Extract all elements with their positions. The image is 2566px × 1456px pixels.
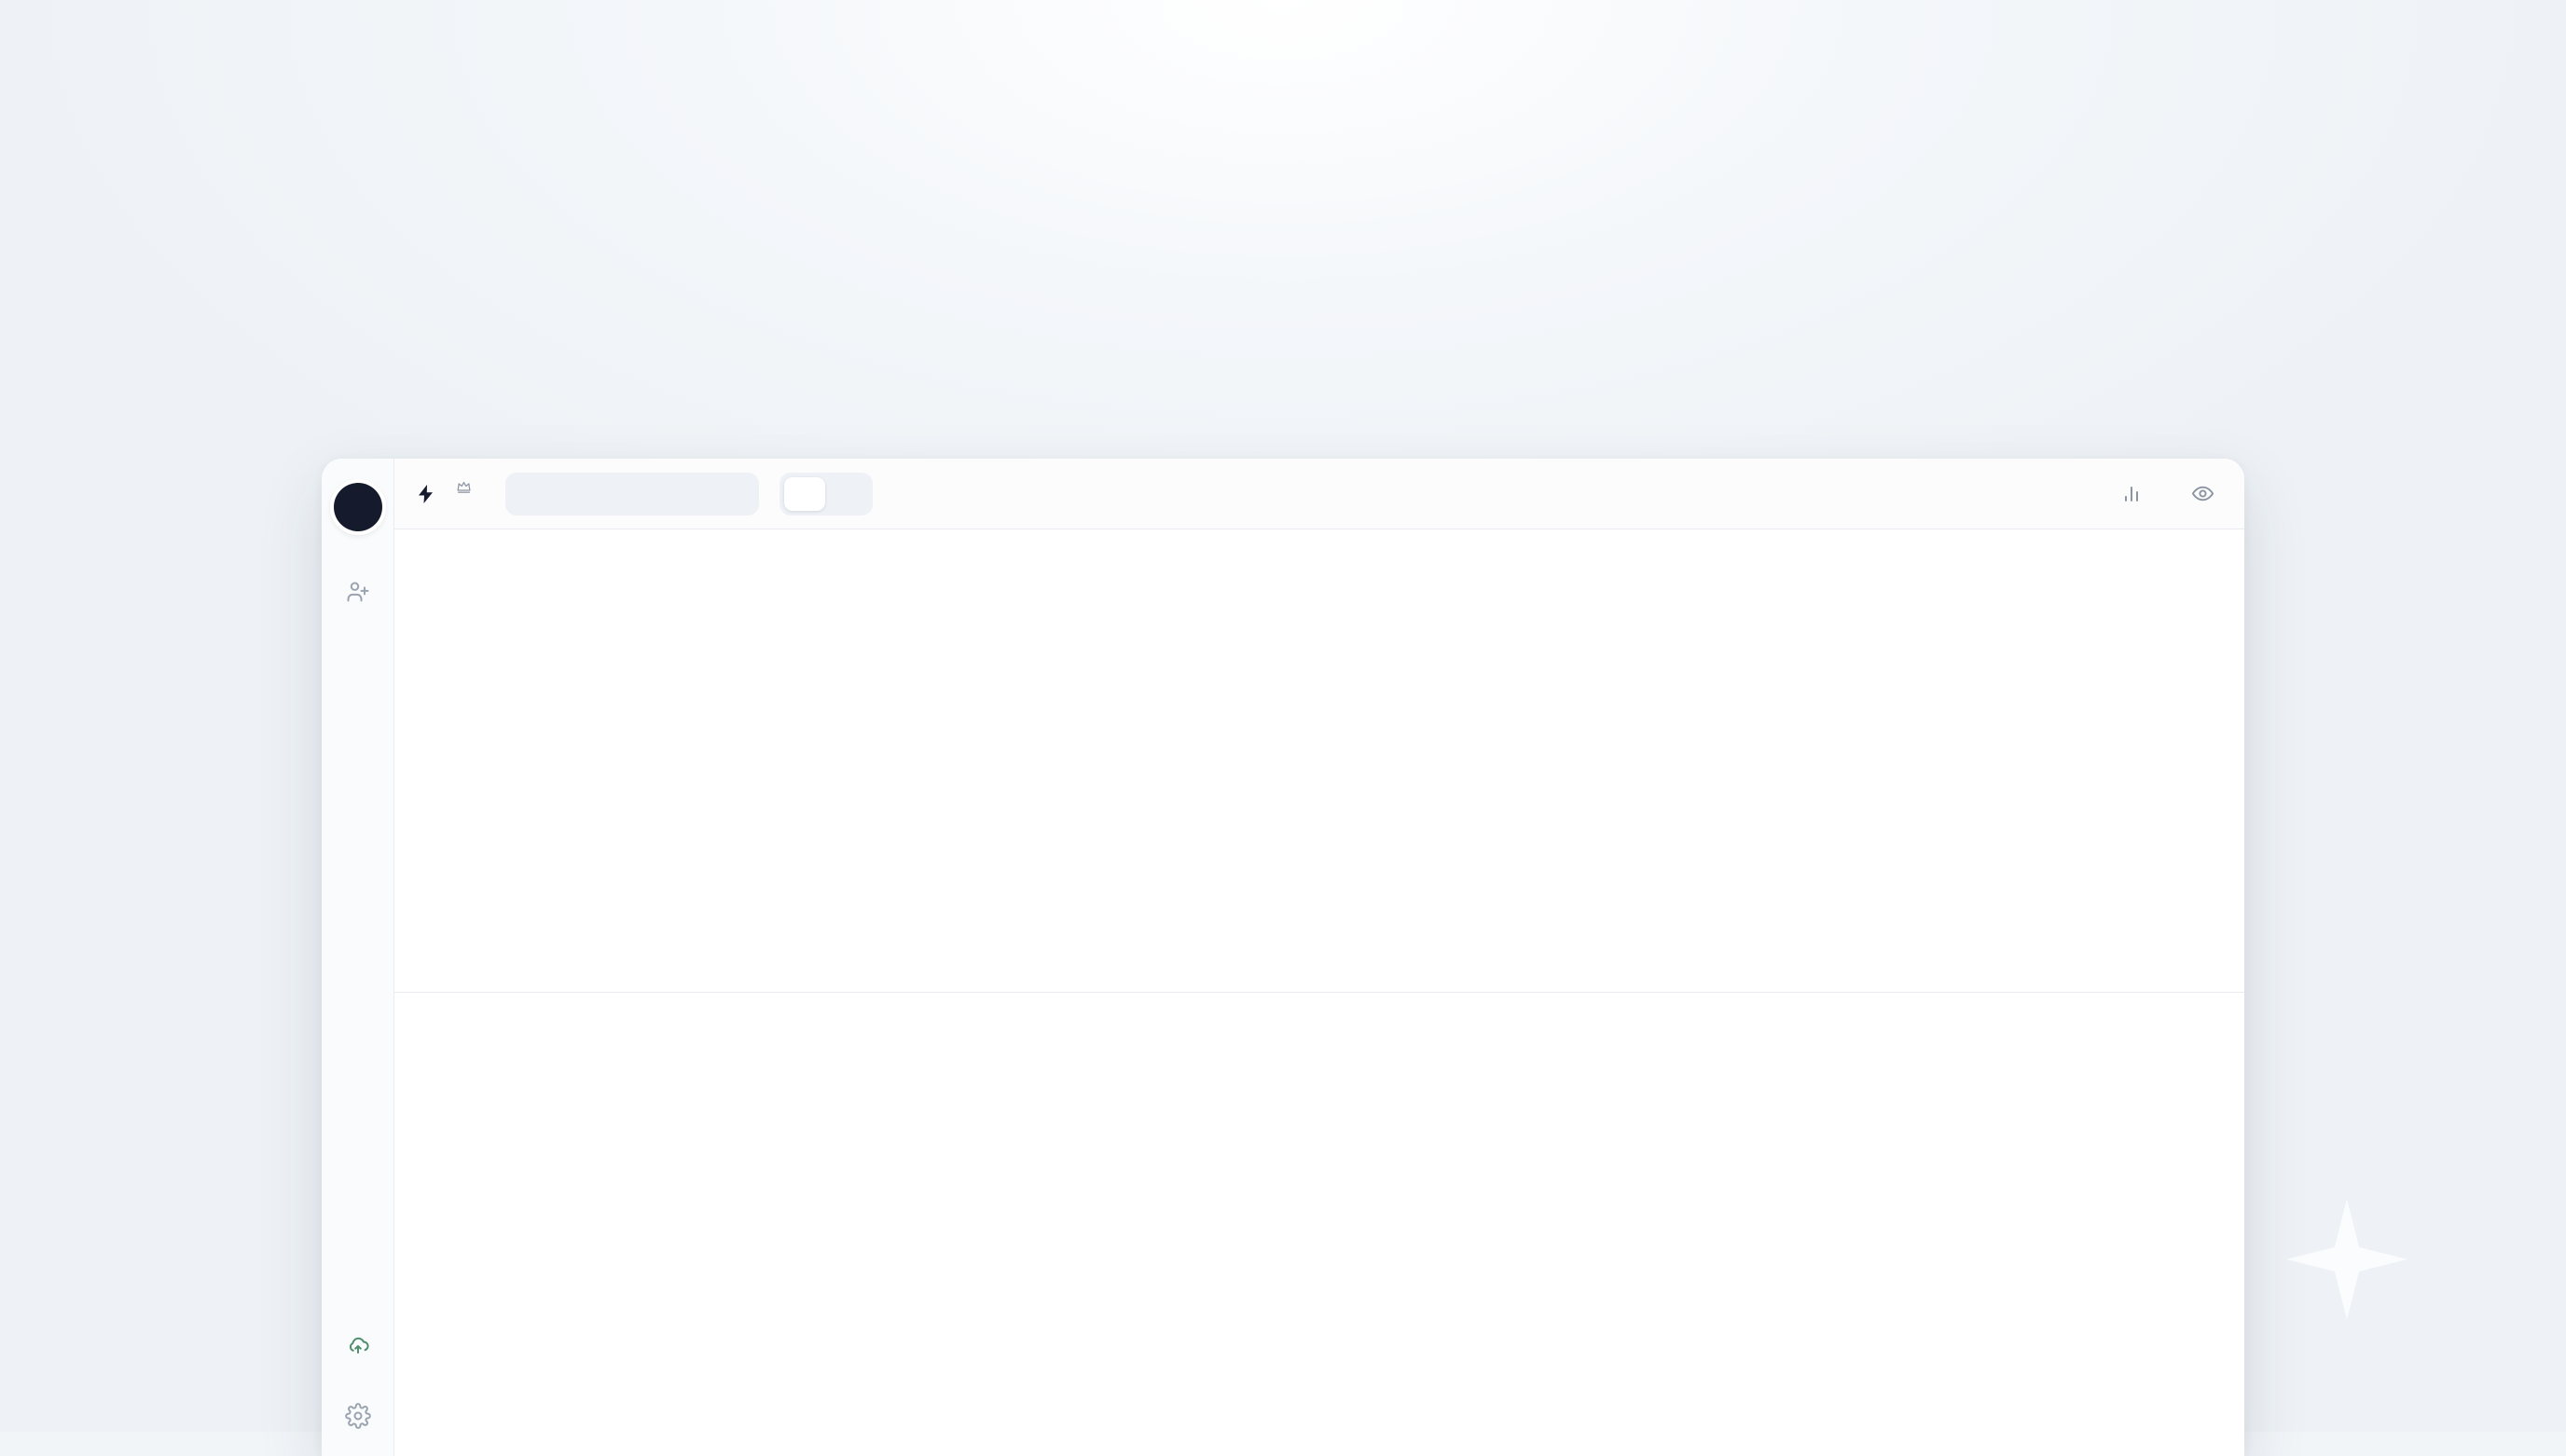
sidebar-rail <box>322 459 394 1456</box>
week-navigator <box>505 473 759 515</box>
prev-week-button[interactable] <box>511 478 543 510</box>
avatar[interactable] <box>334 483 382 531</box>
hero-section <box>0 0 2566 144</box>
tab-timeline[interactable] <box>784 477 825 511</box>
gear-icon[interactable] <box>342 1400 374 1432</box>
app-window <box>322 459 2244 1456</box>
app-main <box>394 459 2244 1456</box>
eye-icon[interactable] <box>2185 476 2220 512</box>
brand[interactable] <box>415 479 472 508</box>
cloud-sync-icon[interactable] <box>342 1329 374 1361</box>
view-switcher <box>779 473 873 515</box>
app-toolbar <box>394 459 2244 529</box>
add-person-icon[interactable] <box>342 576 374 608</box>
week-row-bottom <box>394 993 2244 1456</box>
tab-matrix[interactable] <box>827 477 868 511</box>
week-row-top <box>394 529 2244 993</box>
week-grid <box>394 529 2244 1456</box>
next-week-button[interactable] <box>722 478 753 510</box>
crown-icon <box>456 479 472 495</box>
bar-chart-icon[interactable] <box>2114 476 2149 512</box>
bolt-icon <box>415 483 437 505</box>
